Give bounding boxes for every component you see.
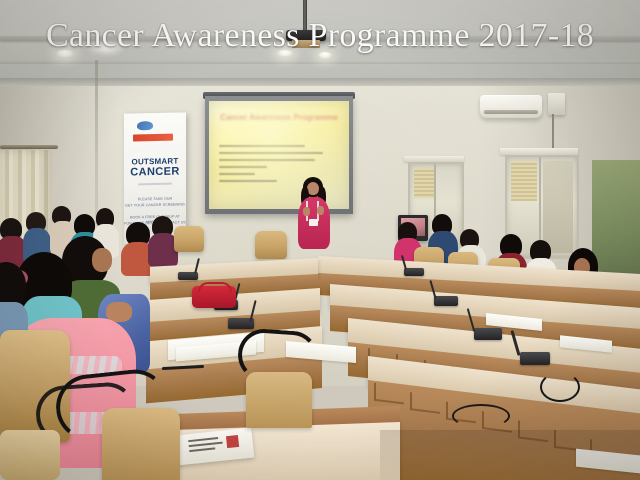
photograph: Cancer Awareness Programme OUTSMART CANC… bbox=[0, 0, 640, 480]
chair-seat bbox=[0, 430, 60, 480]
window-blind bbox=[414, 168, 434, 198]
light-glare bbox=[86, 40, 126, 56]
window-header bbox=[500, 148, 578, 155]
presenter-hand bbox=[303, 207, 310, 216]
wall-speaker-box bbox=[548, 93, 565, 115]
ceiling-lamp bbox=[277, 50, 293, 57]
slide-bullet bbox=[219, 145, 305, 147]
projector-mount-pole bbox=[303, 0, 307, 34]
microphone bbox=[434, 296, 458, 306]
ceiling-lamp bbox=[318, 52, 332, 59]
cable bbox=[540, 372, 580, 402]
bag-handle bbox=[198, 282, 232, 292]
ceiling-lamp bbox=[56, 50, 74, 58]
presenter-id-badge bbox=[309, 219, 318, 226]
projection-screen: Cancer Awareness Programme bbox=[209, 101, 349, 209]
slide-bullet bbox=[219, 173, 255, 175]
air-conditioner bbox=[480, 95, 542, 118]
wall-box-cord bbox=[552, 114, 554, 148]
curtain-rod bbox=[0, 145, 58, 149]
floor-shadow bbox=[380, 430, 640, 480]
conference-chair bbox=[102, 408, 180, 480]
banner-sub-line: GET YOUR CANCER SCREENING bbox=[124, 202, 186, 208]
conference-chair bbox=[174, 226, 204, 252]
banner-divider bbox=[138, 183, 172, 185]
slide-bullet bbox=[219, 180, 277, 182]
banner-headline: OUTSMART CANCER bbox=[124, 156, 186, 177]
presenter-hand bbox=[317, 206, 324, 215]
microphone bbox=[520, 352, 550, 365]
slide-title: Cancer Awareness Programme bbox=[219, 113, 339, 123]
brand-logo-icon bbox=[137, 121, 153, 130]
slide-bullet bbox=[219, 159, 315, 161]
slide-bullet bbox=[219, 152, 323, 154]
window-blind bbox=[511, 161, 537, 201]
projector-lens bbox=[292, 40, 320, 48]
window-foliage bbox=[592, 160, 640, 280]
banner-headline-big: CANCER bbox=[124, 166, 186, 177]
banner-badge bbox=[133, 134, 173, 142]
air-conditioner-vent bbox=[484, 110, 538, 114]
microphone bbox=[474, 328, 502, 340]
chair-armrest bbox=[236, 327, 319, 384]
microphone bbox=[404, 268, 424, 276]
cable bbox=[452, 404, 510, 428]
slide-bullet bbox=[219, 166, 267, 168]
window-pane bbox=[543, 161, 573, 253]
conference-chair bbox=[255, 231, 287, 259]
